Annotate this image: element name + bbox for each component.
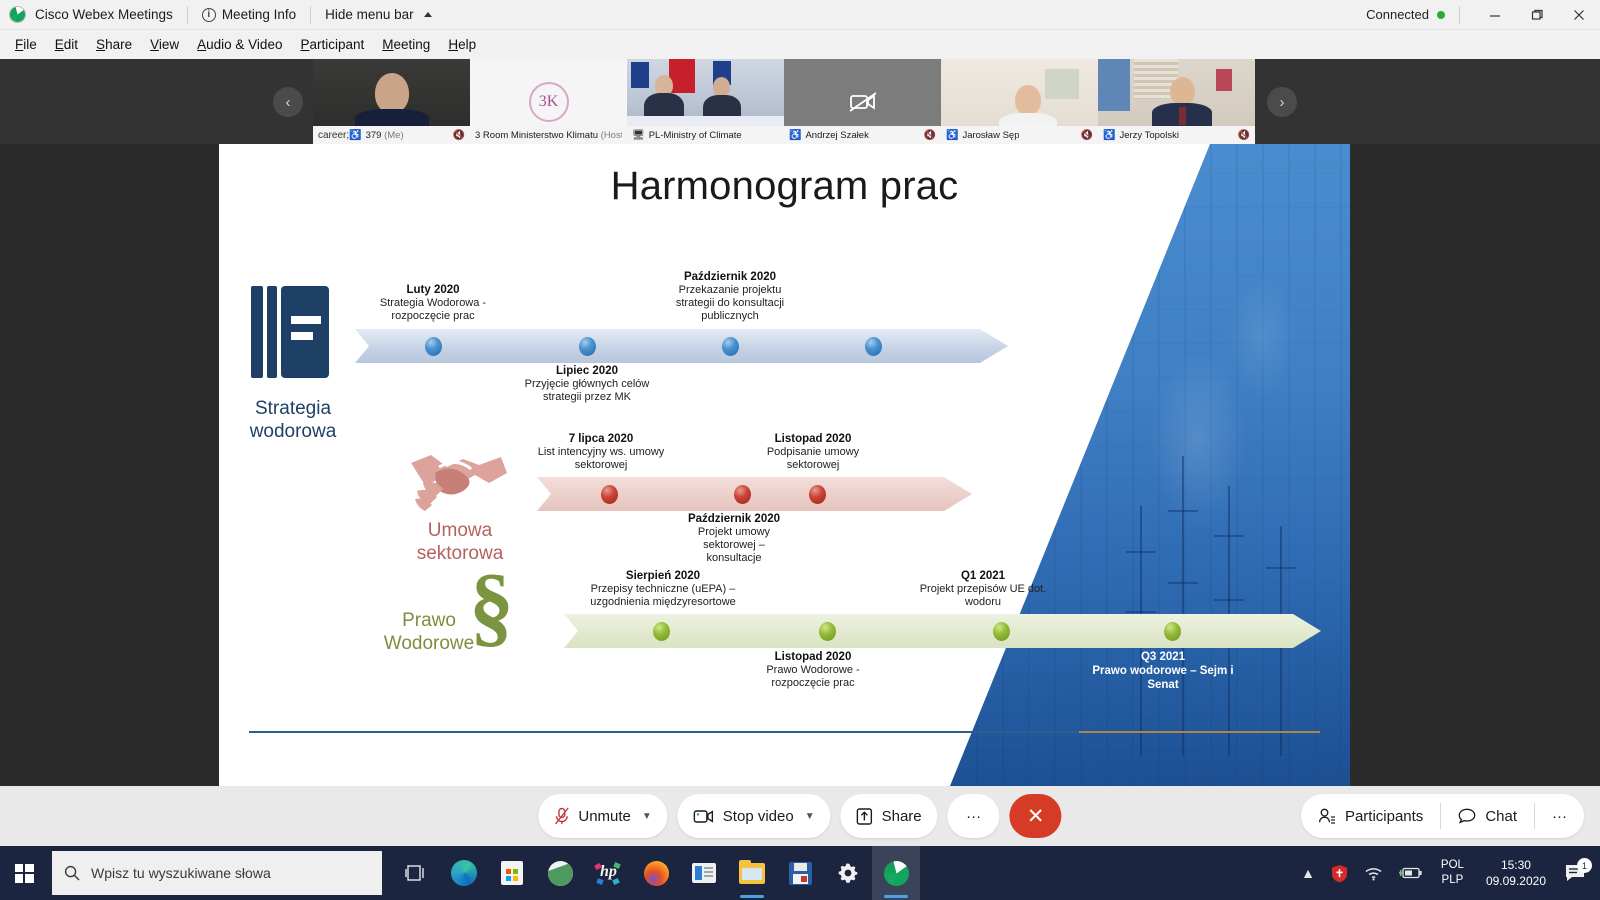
- chevron-down-icon[interactable]: ▼: [805, 811, 815, 822]
- presentation-slide[interactable]: Harmonogram prac Strategia wodorowa: [219, 144, 1350, 786]
- category-label-strategia: Strategia wodorowa: [223, 397, 363, 443]
- thumbnail-label: 🖥 PL-Ministry of Climate: [627, 126, 784, 144]
- task-view-icon[interactable]: [392, 846, 440, 900]
- timeline-dot: [722, 337, 739, 356]
- antivirus-shield-icon[interactable]: [1323, 864, 1356, 883]
- maximize-restore-button[interactable]: [1516, 0, 1558, 30]
- meeting-control-bar: Unmute ▼ Stop video ▼ Share: [0, 786, 1600, 846]
- video-camera-icon: [694, 809, 714, 824]
- headset-icon: career;♿: [318, 130, 362, 141]
- thumbnail-participant-jerzy-topolski[interactable]: ♿ Jerzy Topolski 🔇: [1098, 59, 1255, 144]
- taskbar-app-icons: hp: [392, 846, 920, 900]
- windows-logo-icon: [15, 864, 34, 883]
- keyboard-language-indicator[interactable]: POL PLP: [1431, 858, 1474, 888]
- timeline-event: Listopad 2020 Prawo Wodorowe -rozpoczęci…: [723, 650, 903, 690]
- menu-help[interactable]: Help: [439, 34, 485, 55]
- notifications-button[interactable]: 1: [1558, 863, 1600, 883]
- timeline-arrow-strategia: [355, 329, 1008, 363]
- minimize-button[interactable]: [1474, 0, 1516, 30]
- avatar-initials: 3K: [529, 82, 569, 122]
- timeline-arrow-umowa: [537, 477, 972, 511]
- thumbnail-prev-button[interactable]: ‹: [273, 87, 303, 117]
- end-meeting-button[interactable]: ✕: [1010, 794, 1062, 838]
- search-placeholder: Wpisz tu wyszukiwane słowa: [91, 865, 271, 881]
- menu-edit[interactable]: Edit: [46, 34, 87, 55]
- share-label: Share: [882, 808, 922, 825]
- slide-footer-line-gold: [1079, 731, 1320, 733]
- headset-icon: ♿: [1103, 130, 1115, 141]
- timeline-event: Sierpień 2020 Przepisy techniczne (uEPA)…: [553, 569, 773, 609]
- slide-title: Harmonogram prac: [219, 164, 1350, 209]
- menu-view[interactable]: View: [141, 34, 188, 55]
- webex-logo-icon: [9, 6, 26, 23]
- thumbnail-participant-jaroslaw-sep[interactable]: ♿ Jarosław Sęp 🔇: [941, 59, 1098, 144]
- handshake-icon: [405, 449, 513, 520]
- camera-off-icon: [849, 91, 877, 113]
- mic-muted-icon: 🔇: [1081, 130, 1093, 141]
- menu-help-rest: elp: [458, 37, 476, 52]
- microsoft-store-icon[interactable]: [488, 846, 536, 900]
- thumbnail-next-button[interactable]: ›: [1267, 87, 1297, 117]
- mic-muted-icon: 🔇: [453, 130, 465, 141]
- stop-video-label: Stop video: [723, 808, 794, 825]
- timeline-arrow-prawo: [564, 614, 1321, 648]
- webex-icon[interactable]: [872, 846, 920, 900]
- unmute-button[interactable]: Unmute ▼: [538, 794, 667, 838]
- participant-name: Jerzy Topolski: [1119, 130, 1179, 141]
- hide-menu-bar-button[interactable]: Hide menu bar: [325, 7, 432, 22]
- menu-file[interactable]: File: [6, 34, 46, 55]
- participant-name: 379 (Me): [366, 130, 404, 141]
- news-icon[interactable]: [680, 846, 728, 900]
- menu-audio-video-rest: udio & Video: [206, 37, 282, 52]
- info-icon: i: [202, 8, 216, 22]
- control-bar-right: Participants Chat ···: [1301, 794, 1584, 838]
- connection-status-dot-icon: [1437, 11, 1445, 19]
- participant-name: PL-Ministry of Climate: [649, 130, 742, 141]
- thumbnail-participant-andrzej-szalek[interactable]: ♿ Andrzej Szałek 🔇: [784, 59, 941, 144]
- menu-participant-rest: articipant: [309, 37, 364, 52]
- window-right-group: Connected: [1366, 0, 1600, 30]
- right-more-options-button[interactable]: ···: [1534, 803, 1584, 829]
- windows-taskbar: Wpisz tu wyszukiwane słowa: [0, 846, 1600, 900]
- shared-content-stage: Harmonogram prac Strategia wodorowa: [0, 144, 1600, 786]
- timeline-event: Październik 2020 Projekt umowysektorowej…: [644, 512, 824, 565]
- meeting-info-label: Meeting Info: [222, 7, 296, 22]
- thumbnail-participant-3-room-ministerstwo-klimatu[interactable]: 3K 3 Room Ministerstwo Klimatu (Host): [470, 59, 627, 144]
- participants-icon: [1318, 808, 1336, 824]
- timeline-dot: [734, 485, 751, 504]
- share-upload-icon: [857, 808, 873, 825]
- chevron-down-icon[interactable]: ▼: [642, 811, 652, 822]
- show-hidden-icons-button[interactable]: ▲: [1293, 865, 1323, 881]
- timeline-dot: [819, 622, 836, 641]
- timeline-event: 7 lipca 2020 List intencyjny ws. umowyse…: [511, 432, 691, 472]
- mic-muted-icon: 🔇: [924, 130, 936, 141]
- mic-muted-icon: [554, 807, 569, 825]
- timeline-dot: [425, 337, 442, 356]
- control-bar-center: Unmute ▼ Stop video ▼ Share: [538, 794, 1061, 838]
- thumbnail-label: ♿ Jerzy Topolski 🔇: [1098, 126, 1255, 144]
- category-label-prawo: Prawo Wodorowe: [349, 609, 509, 655]
- share-button[interactable]: Share: [841, 794, 938, 838]
- menu-bar: File Edit Share View Audio & Video Parti…: [0, 30, 1600, 59]
- right-control-group: Participants Chat ···: [1301, 794, 1584, 838]
- participants-button[interactable]: Participants: [1301, 803, 1440, 829]
- firefox-icon[interactable]: [632, 846, 680, 900]
- menu-view-rest: iew: [159, 37, 179, 52]
- thumbnail-participant-379[interactable]: career;♿ 379 (Me) 🔇: [313, 59, 470, 144]
- power-pylon-icon: [1182, 456, 1184, 756]
- stop-video-button[interactable]: Stop video ▼: [678, 794, 831, 838]
- participant-thumbnail-strip: ‹ › career;♿ 379 (Me) 🔇 3K: [0, 59, 1600, 144]
- arrow-shaft: [564, 614, 1321, 648]
- timeline-event: Listopad 2020 Podpisanie umowysektorowej: [723, 432, 903, 472]
- chat-label: Chat: [1485, 808, 1517, 825]
- sharing-screen-icon: 🖥: [632, 130, 645, 141]
- headset-icon: ♿: [946, 130, 958, 141]
- close-button[interactable]: [1558, 0, 1600, 30]
- arrow-shaft: [355, 329, 1008, 363]
- menu-file-rest: ile: [23, 37, 37, 52]
- menu-participant[interactable]: Participant: [291, 34, 373, 55]
- more-options-button[interactable]: ···: [948, 794, 1000, 838]
- green-app-icon[interactable]: [536, 846, 584, 900]
- thumbnail-label: ♿ Jarosław Sęp 🔇: [941, 126, 1098, 144]
- webex-meeting-window: Cisco Webex Meetings i Meeting Info Hide…: [0, 0, 1600, 900]
- thumbnail-list: career;♿ 379 (Me) 🔇 3K 3 Room Ministerst…: [313, 59, 1255, 144]
- save-floppy-icon[interactable]: [776, 846, 824, 900]
- timeline-dot: [1164, 622, 1181, 641]
- thumbnail-participant-pl-ministry-of-climate[interactable]: 🖥 PL-Ministry of Climate: [627, 59, 784, 144]
- search-icon: [64, 865, 80, 881]
- taskbar-search-input[interactable]: Wpisz tu wyszukiwane słowa: [52, 851, 382, 895]
- menu-meeting-rest: eeting: [394, 37, 431, 52]
- app-title: Cisco Webex Meetings: [35, 7, 173, 22]
- hp-icon[interactable]: hp: [584, 846, 632, 900]
- title-bar: Cisco Webex Meetings i Meeting Info Hide…: [0, 0, 1600, 30]
- timeline-dot: [993, 622, 1010, 641]
- book-icon: [249, 284, 331, 389]
- system-tray: ▲: [1293, 846, 1600, 900]
- participant-name: Andrzej Szałek: [805, 130, 868, 141]
- battery-charging-icon[interactable]: [1391, 866, 1431, 880]
- menu-share[interactable]: Share: [87, 34, 141, 55]
- timeline-event: Luty 2020 Strategia Wodorowa -rozpoczęci…: [343, 283, 523, 323]
- start-button[interactable]: [0, 846, 48, 900]
- settings-gear-icon[interactable]: [824, 846, 872, 900]
- divider: [1459, 6, 1460, 24]
- headset-icon: ♿: [789, 130, 801, 141]
- chat-button[interactable]: Chat: [1440, 803, 1534, 829]
- divider: [310, 6, 311, 24]
- connection-status: Connected: [1366, 7, 1429, 22]
- notification-badge: 1: [1577, 858, 1592, 873]
- timeline-event: Lipiec 2020 Przyjęcie głównych celówstra…: [497, 364, 677, 404]
- microsoft-edge-icon[interactable]: [440, 846, 488, 900]
- timeline-event: Q1 2021 Projekt przepisów UE dot.wodoru: [893, 569, 1073, 609]
- clock[interactable]: 15:30 09.09.2020: [1474, 857, 1558, 889]
- participant-name: 3 Room Ministerstwo Klimatu (Host): [475, 130, 622, 141]
- timeline-dot: [865, 337, 882, 356]
- unmute-label: Unmute: [578, 808, 631, 825]
- timeline-dot: [653, 622, 670, 641]
- menu-meeting[interactable]: Meeting: [373, 34, 439, 55]
- timeline-dot: [579, 337, 596, 356]
- divider: [187, 6, 188, 24]
- mic-muted-icon: 🔇: [1238, 130, 1250, 141]
- meeting-info-button[interactable]: i Meeting Info: [202, 7, 296, 22]
- timeline-event: Q3 2021 Prawo wodorowe – Sejm iSenat: [1063, 650, 1263, 692]
- timeline-dot: [809, 485, 826, 504]
- slide-footer-line-blue: [249, 731, 1079, 733]
- chevron-up-icon: [424, 12, 432, 17]
- menu-edit-rest: dit: [64, 37, 78, 52]
- hide-menu-bar-label: Hide menu bar: [325, 7, 414, 22]
- menu-share-rest: hare: [105, 37, 132, 52]
- thumbnail-label: career;♿ 379 (Me) 🔇: [313, 126, 470, 144]
- timeline-event: Październik 2020 Przekazanie projektustr…: [640, 270, 820, 323]
- chat-bubble-icon: [1458, 808, 1476, 824]
- timeline-dot: [601, 485, 618, 504]
- thumbnail-label: 3 Room Ministerstwo Klimatu (Host): [470, 126, 627, 144]
- menu-audio-video[interactable]: Audio & Video: [188, 34, 291, 55]
- thumbnail-label: ♿ Andrzej Szałek 🔇: [784, 126, 941, 144]
- file-explorer-icon[interactable]: [728, 846, 776, 900]
- participant-name: Jarosław Sęp: [962, 130, 1019, 141]
- wifi-icon[interactable]: [1356, 865, 1391, 881]
- participants-label: Participants: [1345, 808, 1423, 825]
